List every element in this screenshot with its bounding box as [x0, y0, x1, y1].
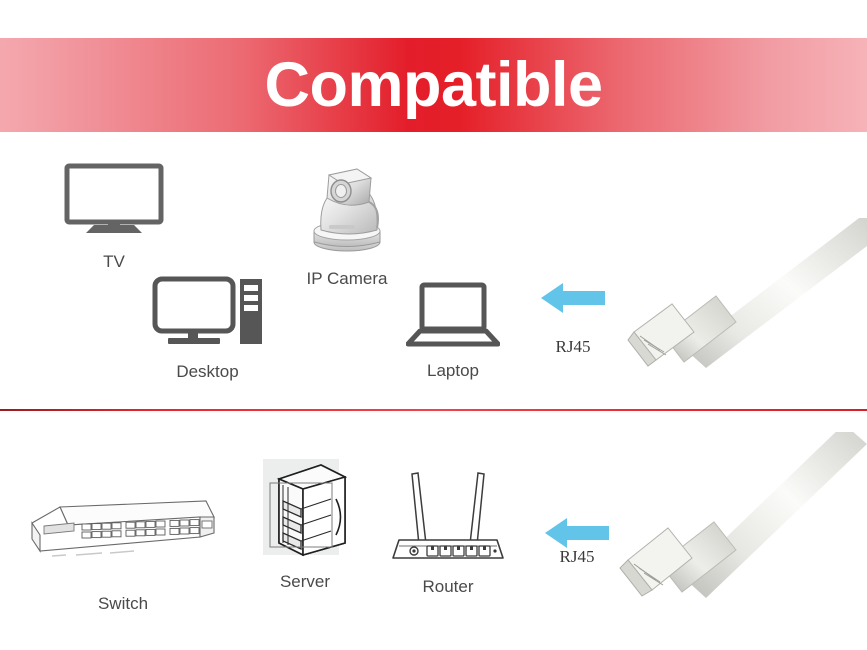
- section-divider: [0, 409, 867, 411]
- device-router: Router: [388, 460, 508, 597]
- device-label: IP Camera: [282, 269, 412, 289]
- device-desktop: Desktop: [140, 275, 275, 382]
- device-label: Desktop: [140, 362, 275, 382]
- server-rack-icon: [255, 455, 355, 564]
- header-banner: Compatible: [0, 38, 867, 132]
- tv-icon: [44, 163, 184, 240]
- device-label: Server: [255, 572, 355, 592]
- rj45-cable-photo: [620, 218, 867, 393]
- device-label: TV: [44, 252, 184, 272]
- device-label: Laptop: [398, 361, 508, 381]
- rj45-cable-photo: [612, 432, 867, 637]
- ip-camera-icon: [282, 158, 412, 261]
- page-title: Compatible: [0, 38, 867, 132]
- rj45-label: RJ45: [545, 547, 609, 567]
- arrow-left-icon: [541, 281, 605, 320]
- switch-icon: [28, 495, 218, 570]
- device-switch: Switch: [28, 495, 218, 614]
- device-ip-camera: IP Camera: [282, 158, 412, 289]
- device-label: Router: [388, 577, 508, 597]
- device-server: Server: [255, 455, 355, 592]
- desktop-icon: [140, 275, 275, 352]
- device-tv: TV: [44, 163, 184, 272]
- device-label: Switch: [28, 594, 218, 614]
- rj45-label: RJ45: [541, 337, 605, 357]
- laptop-icon: [398, 282, 508, 353]
- device-laptop: Laptop: [398, 282, 508, 381]
- router-icon: [388, 460, 508, 569]
